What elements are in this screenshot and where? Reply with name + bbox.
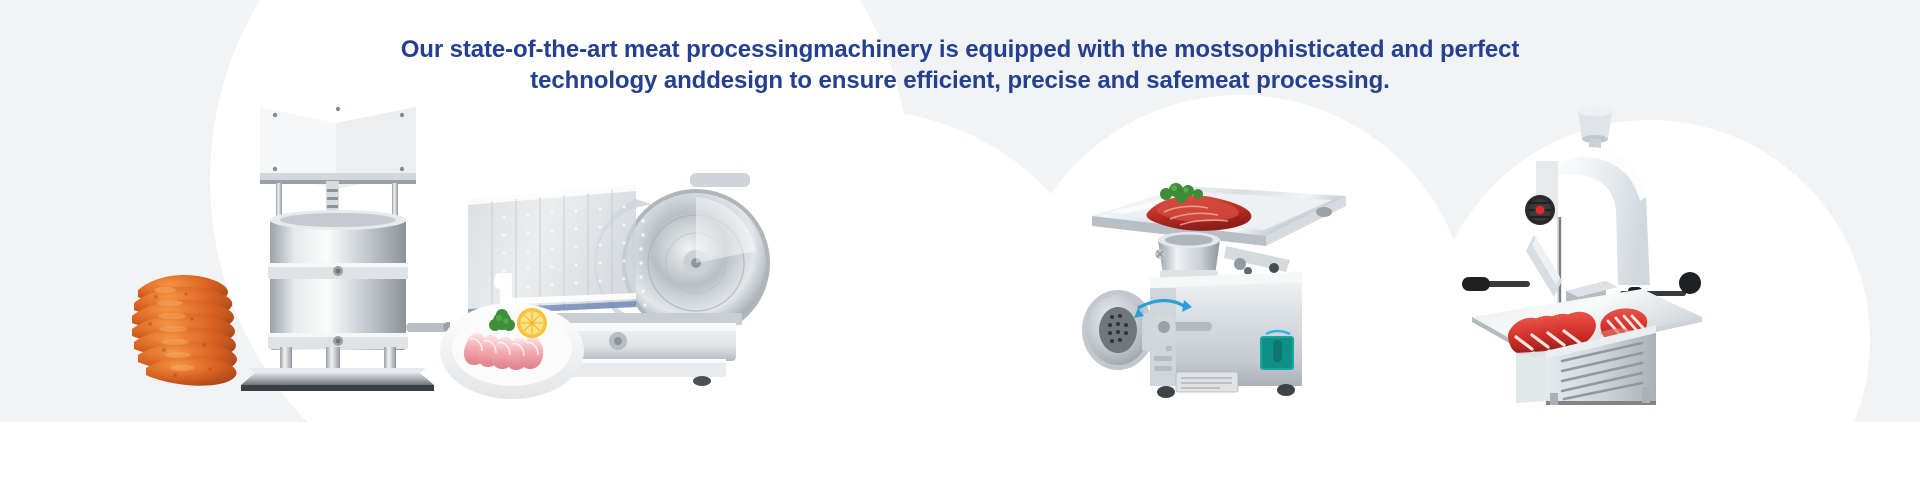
left-handle[interactable] (1462, 277, 1530, 291)
product-meat-grinder (1080, 150, 1380, 400)
stuffer-machine (241, 91, 450, 391)
product-sausage-stuffer (120, 85, 450, 395)
headline-line-2: technology anddesign to ensure efficient… (530, 67, 1390, 94)
product-bone-band-saw (1450, 105, 1750, 405)
product-meat-slicer (440, 155, 780, 400)
bandsaw-funnel (1578, 106, 1612, 153)
headline-line-1: Our state-of-the-art meat processingmach… (401, 36, 1520, 63)
accessory-sausages (132, 275, 237, 386)
power-switch[interactable] (1260, 331, 1294, 370)
accessory-sliced-meat-plate (440, 303, 584, 399)
page-title: Our state-of-the-art meat processingmach… (400, 34, 1520, 96)
hero-banner: Our state-of-the-art meat processingmach… (0, 0, 1920, 500)
tension-knob[interactable] (1525, 195, 1555, 225)
bottom-fade (0, 422, 1920, 500)
